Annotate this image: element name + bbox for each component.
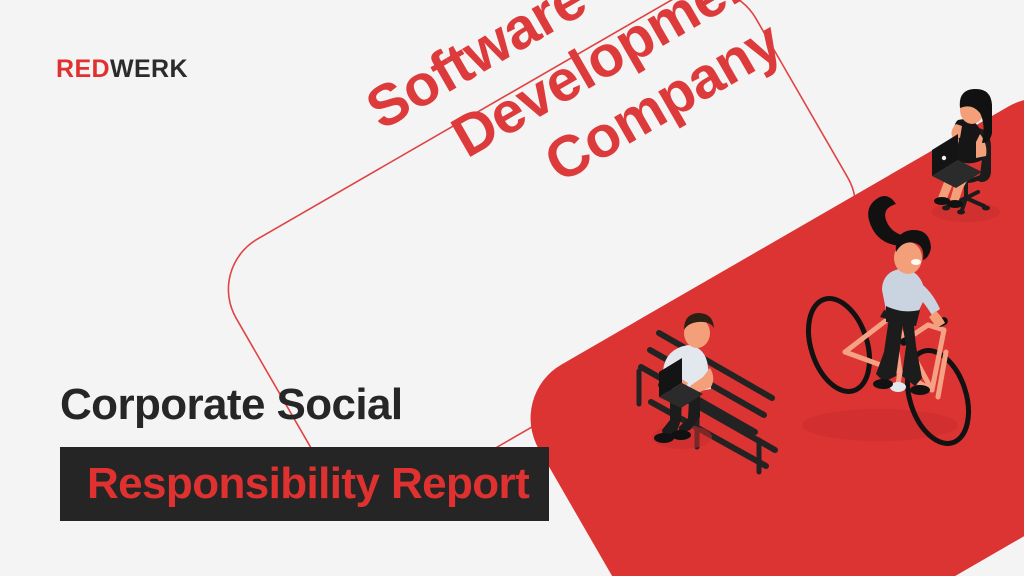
brand-logo[interactable]: REDWERK (56, 57, 188, 82)
page-title-highlight-bar: Responsibility Report (60, 447, 549, 521)
woman-arm-raised (952, 124, 963, 138)
rider-leg-back (876, 318, 903, 382)
figure-woman-on-chair (932, 89, 1000, 222)
rider-leg-front (901, 316, 922, 386)
rider-shorts (886, 306, 920, 326)
woman-skirt (948, 155, 982, 179)
logo-text-dark: WERK (110, 55, 188, 83)
laptop-man (659, 358, 703, 408)
man-arm-left (664, 366, 688, 392)
rider-head (894, 242, 922, 274)
bench-legs (639, 371, 759, 472)
page-title-line-2: Responsibility Report (60, 462, 529, 506)
rotated-tagline: Software Development Company (355, 0, 941, 260)
man-legs (662, 382, 683, 437)
bike-rear-wheel (798, 291, 881, 400)
bike-front-wheel (897, 343, 980, 452)
man-head (684, 318, 710, 348)
shadow-bike (802, 409, 958, 441)
poster-canvas: REDWERK Software Development Company Cor… (0, 0, 1024, 576)
rider-ponytail (868, 196, 904, 246)
chair-base (948, 178, 984, 210)
bike-frame (845, 316, 946, 397)
figure-man-on-bench (639, 313, 775, 472)
bike-saddle (880, 310, 900, 322)
woman-head (960, 96, 984, 124)
rider-top (882, 269, 924, 316)
bench (641, 333, 775, 466)
shadow-chair (932, 202, 1000, 222)
laptop-woman (932, 134, 982, 188)
chair-seat (949, 167, 983, 183)
woman-hair (960, 89, 992, 143)
rider-hair (896, 230, 931, 260)
shadow-man (652, 425, 712, 449)
logo-text-red: RED (56, 55, 110, 83)
woman-top (952, 119, 982, 163)
man-hair (684, 313, 714, 330)
woman-legs (938, 168, 964, 201)
man-arm-right (690, 368, 713, 395)
rider-arm (912, 281, 940, 315)
chair-back (975, 128, 991, 182)
figure-woman-on-bicycle (798, 196, 980, 451)
page-title-line-1: Corporate Social (60, 383, 403, 427)
man-shirt (663, 345, 711, 395)
